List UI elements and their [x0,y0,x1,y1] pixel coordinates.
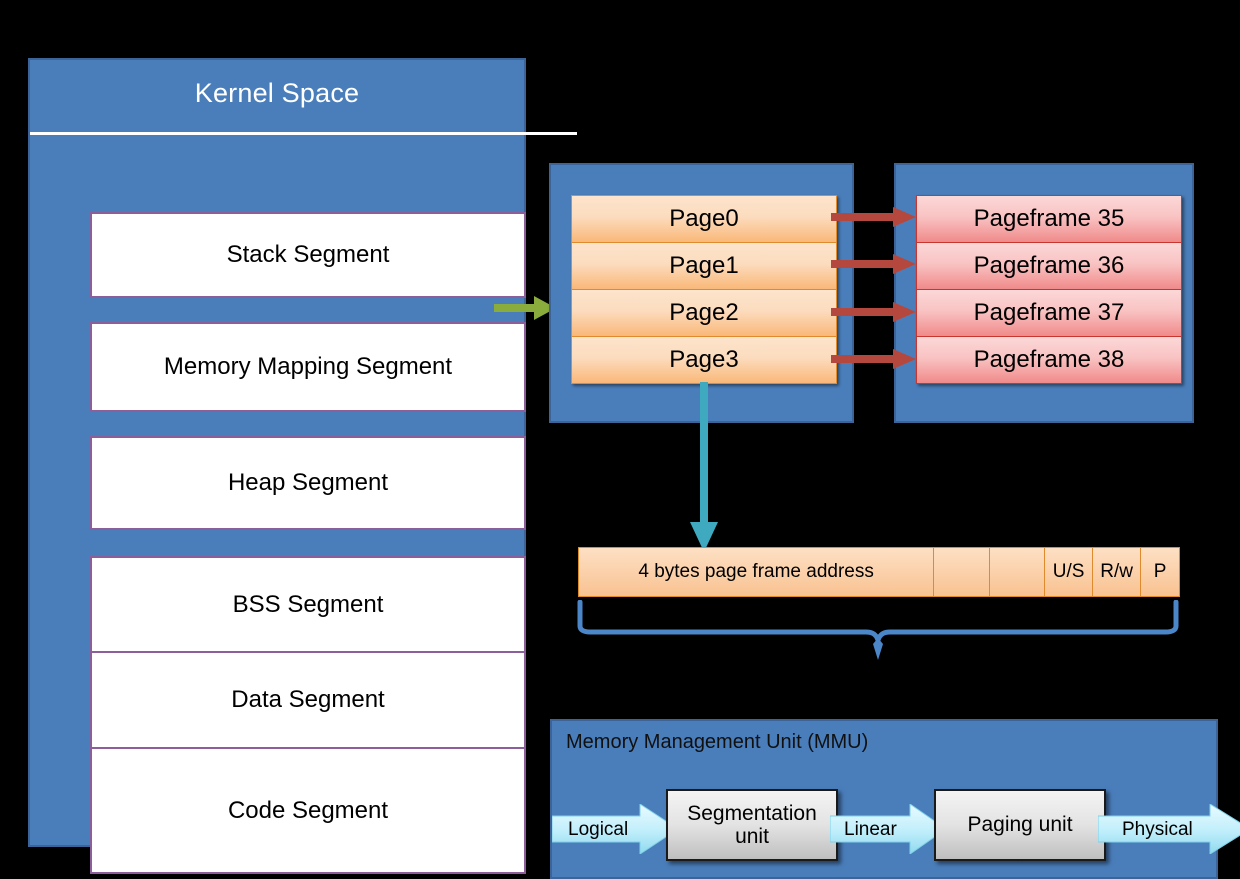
diagram-canvas: Kernel Space Stack Segment Memory Mappin… [0,0,1240,879]
page-item: Page3 [571,336,837,384]
segment-memory-mapping: Memory Mapping Segment [90,322,526,412]
page-label: Page3 [669,346,738,374]
pte-p-flag: P [1140,547,1180,597]
pageframe-label: Pageframe 37 [974,299,1125,327]
page-label: Page0 [669,205,738,233]
linear-label: Linear [844,819,897,841]
kernel-space-divider-line [30,132,577,135]
pte-address-label: 4 bytes page frame address [638,561,874,583]
page-to-pte-arrow-icon [684,382,724,554]
segmentation-unit-line2: unit [735,825,769,848]
mapping-arrow-icon [831,206,917,228]
segment-label: Code Segment [228,797,388,825]
mapping-arrow-icon [831,253,917,275]
mapping-arrow-icon [831,301,917,323]
segment-label: Data Segment [231,686,384,714]
paging-unit-label: Paging unit [967,813,1072,836]
pte-reserved-field-2 [989,547,1044,597]
pte-brace-icon [570,600,1190,662]
pte-reserved-field-1 [933,547,988,597]
page-label: Page1 [669,252,738,280]
segment-heap: Heap Segment [90,436,526,530]
pageframe-item: Pageframe 37 [916,289,1182,336]
paging-unit-box: Paging unit [934,789,1106,861]
segmentation-unit-line1: Segmentation [687,802,817,825]
segment-label: BSS Segment [233,591,384,619]
page-label: Page2 [669,299,738,327]
pageframe-item: Pageframe 36 [916,242,1182,289]
segmentation-unit-box: Segmentation unit [666,789,838,861]
pageframe-list: Pageframe 35 Pageframe 36 Pageframe 37 P… [916,195,1182,384]
page-list: Page0 Page1 Page2 Page3 [571,195,837,384]
address-space-panel: Kernel Space Stack Segment Memory Mappin… [28,58,526,847]
pte-address-field: 4 bytes page frame address [578,547,933,597]
segment-bss: BSS Segment [90,556,526,652]
segment-label: Memory Mapping Segment [164,353,452,381]
segment-stack: Stack Segment [90,212,526,298]
pte-us-label: U/S [1053,561,1085,583]
pageframe-label: Pageframe 35 [974,205,1125,233]
mapping-arrow-icon [831,348,917,370]
segment-code: Code Segment [90,748,526,874]
segment-label: Stack Segment [227,241,390,269]
page-item: Page0 [571,195,837,242]
pte-rw-label: R/w [1100,561,1133,583]
segment-label: Heap Segment [228,469,388,497]
kernel-space-title: Kernel Space [30,78,524,109]
mmu-panel: Memory Management Unit (MMU) Logical Seg… [550,719,1218,879]
pageframe-label: Pageframe 38 [974,346,1125,374]
mmu-title: Memory Management Unit (MMU) [566,731,868,754]
segment-data: Data Segment [90,652,526,748]
pageframe-item: Pageframe 38 [916,336,1182,384]
pageframes-panel: Pageframe 35 Pageframe 36 Pageframe 37 P… [894,163,1194,423]
segmentation-unit-label: Segmentation unit [687,802,817,848]
page-item: Page2 [571,289,837,336]
pte-rw-flag: R/w [1092,547,1140,597]
logical-label: Logical [568,819,628,841]
page-item: Page1 [571,242,837,289]
pte-us-flag: U/S [1044,547,1092,597]
pte-p-label: P [1154,561,1167,583]
physical-label: Physical [1122,819,1193,841]
pageframe-label: Pageframe 36 [974,252,1125,280]
page-table-entry-bar: 4 bytes page frame address U/S R/w P [578,547,1180,597]
pageframe-item: Pageframe 35 [916,195,1182,242]
